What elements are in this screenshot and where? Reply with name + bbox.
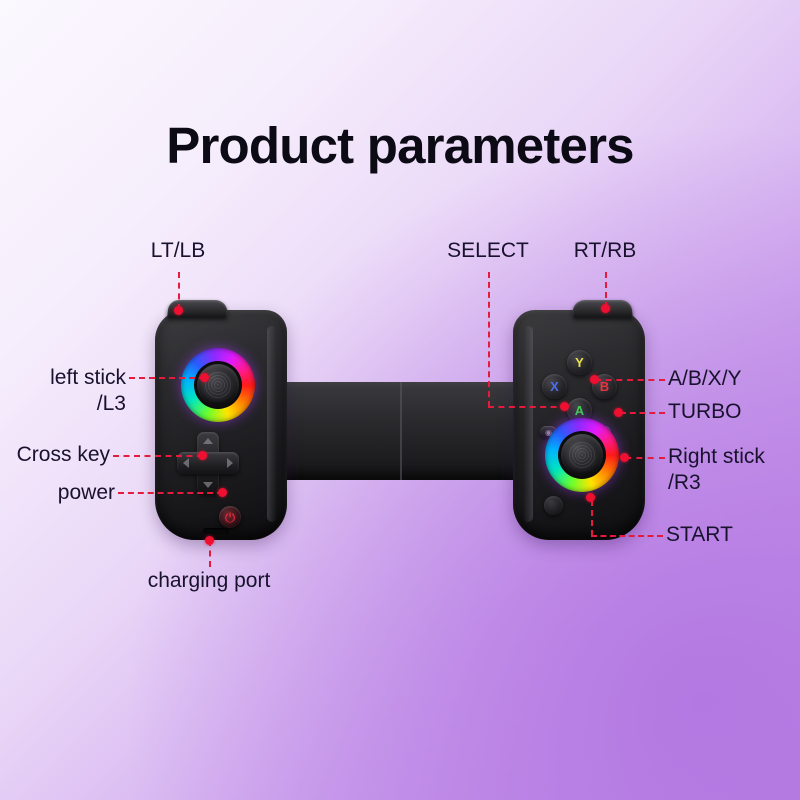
page-title: Product parameters	[0, 116, 800, 175]
leader-line-start-vertical	[591, 500, 593, 536]
leader-line-abxy	[595, 379, 665, 381]
leader-line-select-horizontal	[488, 406, 567, 408]
right-pod-edge	[523, 326, 533, 522]
stick-cap	[561, 434, 603, 476]
leader-dot-start	[586, 493, 595, 502]
power-button[interactable]: ⏻	[219, 506, 241, 528]
leader-line-turbo	[620, 412, 665, 414]
dpad-right-arrow-icon	[227, 458, 233, 468]
label-turbo: TURBO	[668, 399, 798, 425]
label-power: power	[0, 480, 115, 506]
leader-line-power	[118, 492, 223, 494]
game-controller-illustration: ⏻ Y X B A ◉ ▯	[150, 300, 650, 550]
label-cross-key: Cross key	[0, 442, 110, 468]
label-start: START	[666, 522, 796, 548]
label-left-stick-line1: left stick	[0, 365, 126, 391]
right-analog-stick[interactable]	[545, 418, 619, 492]
left-analog-stick[interactable]	[181, 348, 255, 422]
label-charging-port: charging port	[109, 568, 309, 594]
charging-port	[203, 528, 229, 534]
leader-dot-lt-lb	[174, 306, 183, 315]
leader-dot-left-stick	[200, 373, 209, 382]
label-left-stick-line2: /L3	[0, 391, 126, 417]
leader-dot-power	[218, 488, 227, 497]
leader-line-lt-lb	[178, 272, 180, 310]
leader-line-select-vertical	[488, 272, 490, 407]
controller-bridge-seam	[400, 382, 402, 480]
right-grip-pod: Y X B A ◉ ▯	[513, 310, 645, 540]
leader-dot-select	[560, 402, 569, 411]
label-right-stick-line2: /R3	[668, 470, 800, 496]
start-button[interactable]	[544, 496, 563, 515]
dpad-down-arrow-icon	[203, 482, 213, 488]
dpad-cross-key[interactable]	[177, 432, 239, 494]
dpad-left-arrow-icon	[183, 458, 189, 468]
leader-line-rt-rb	[605, 272, 607, 308]
leader-dot-charging-port	[205, 536, 214, 545]
leader-dot-rt-rb	[601, 304, 610, 313]
leader-dot-right-stick	[620, 453, 629, 462]
button-x[interactable]: X	[542, 374, 567, 399]
leader-line-left-stick	[129, 377, 205, 379]
button-y[interactable]: Y	[567, 350, 592, 375]
product-parameters-infographic: Product parameters ⏻	[0, 0, 800, 800]
leader-line-start-horizontal	[591, 535, 663, 537]
dpad-up-arrow-icon	[203, 438, 213, 444]
leader-line-right-stick	[625, 457, 665, 459]
leader-dot-cross-key	[198, 451, 207, 460]
left-pod-edge	[267, 326, 277, 522]
label-lt-lb: LT/LB	[118, 238, 238, 264]
leader-line-cross-key	[113, 455, 203, 457]
label-abxy: A/B/X/Y	[668, 366, 798, 392]
stick-cap	[197, 364, 239, 406]
label-right-stick-line1: Right stick	[668, 444, 800, 470]
label-select: SELECT	[428, 238, 548, 264]
leader-dot-turbo	[614, 408, 623, 417]
label-rt-rb: RT/RB	[545, 238, 665, 264]
leader-dot-abxy	[590, 375, 599, 384]
left-grip-pod: ⏻	[155, 310, 287, 540]
power-icon: ⏻	[225, 511, 235, 524]
